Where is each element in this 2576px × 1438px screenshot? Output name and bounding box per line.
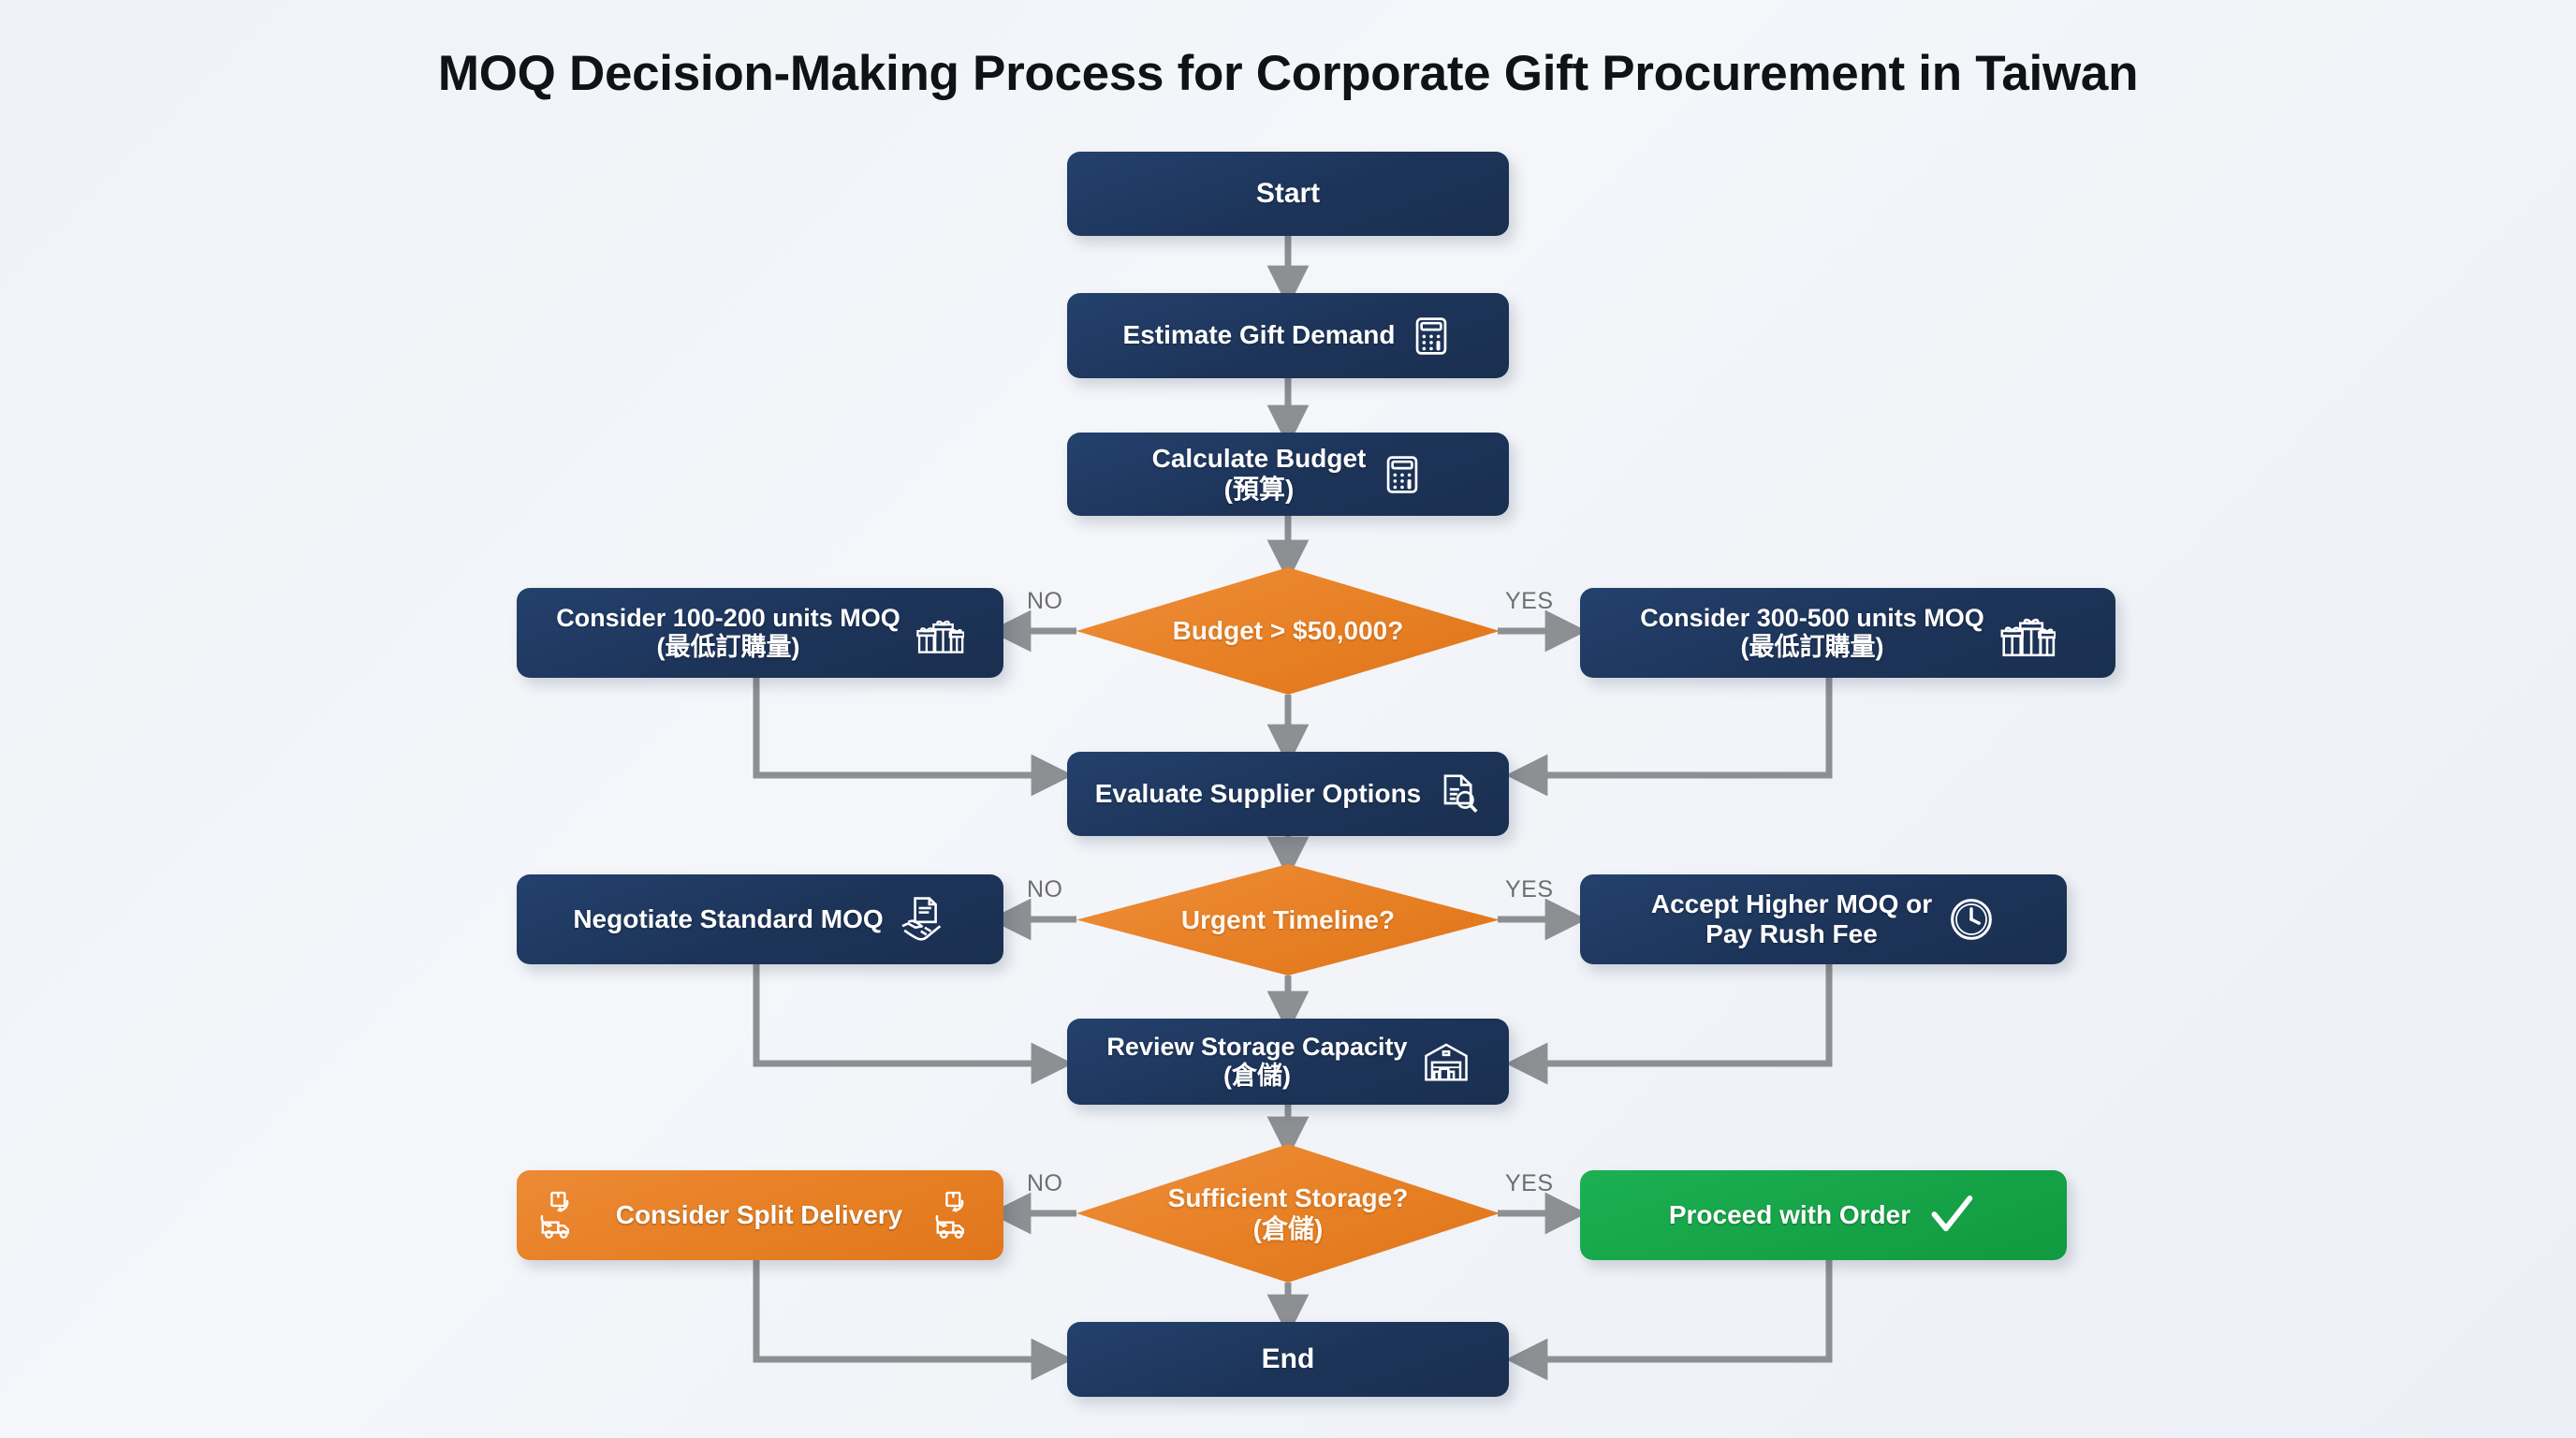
branch-label-no-timeline: NO	[1027, 876, 1063, 903]
gift-icon	[915, 609, 964, 657]
node-evaluate-supplier-options-label: Evaluate Supplier Options	[1095, 779, 1422, 809]
decision-budget-threshold-label: Budget > $50,000?	[1173, 615, 1404, 646]
node-end-label: End	[1262, 1343, 1315, 1376]
node-review-storage-capacity[interactable]: Review Storage Capacity (倉儲)	[1067, 1019, 1509, 1105]
node-consider-low-moq-label: Consider 100-200 units MOQ (最低訂購量)	[556, 604, 900, 663]
node-negotiate-standard-moq[interactable]: Negotiate Standard MOQ	[517, 874, 1003, 964]
decision-sufficient-storage-label: Sufficient Storage? (倉儲)	[1168, 1182, 1409, 1244]
branch-label-yes-storage: YES	[1505, 1170, 1554, 1197]
node-estimate-gift-demand[interactable]: Estimate Gift Demand	[1067, 293, 1509, 378]
decision-budget-threshold[interactable]: Budget > $50,000?	[1076, 567, 1500, 695]
handshake-contract-icon	[899, 895, 947, 944]
delivery-truck-icon	[932, 1190, 983, 1240]
node-consider-low-moq-line1: Consider 100-200 units MOQ	[556, 604, 900, 632]
node-accept-higher-moq-line1: Accept Higher MOQ or	[1651, 889, 1932, 918]
warehouse-icon	[1423, 1038, 1470, 1085]
node-review-storage-capacity-line1: Review Storage Capacity	[1106, 1033, 1407, 1061]
node-consider-low-moq-line2: (最低訂購量)	[657, 633, 800, 661]
clock-icon	[1947, 895, 1996, 944]
node-calculate-budget-line2: (預算)	[1224, 475, 1295, 504]
node-calculate-budget-line1: Calculate Budget	[1152, 444, 1367, 473]
calculator-icon	[1381, 453, 1424, 496]
node-accept-higher-moq-label: Accept Higher MOQ or Pay Rush Fee	[1651, 889, 1932, 950]
node-proceed-with-order-label: Proceed with Order	[1669, 1200, 1910, 1230]
node-consider-high-moq-line1: Consider 300-500 units MOQ	[1640, 604, 1984, 632]
node-consider-high-moq-label: Consider 300-500 units MOQ (最低訂購量)	[1640, 604, 1984, 663]
decision-urgent-timeline[interactable]: Urgent Timeline?	[1076, 864, 1500, 976]
decision-sufficient-storage[interactable]: Sufficient Storage? (倉儲)	[1076, 1144, 1500, 1283]
delivery-truck-icon	[537, 1190, 588, 1240]
node-accept-higher-moq-line2: Pay Rush Fee	[1705, 919, 1878, 948]
document-search-icon	[1436, 771, 1481, 816]
check-icon	[1925, 1189, 1978, 1241]
flowchart-canvas: NO YES NO YES NO YES Start Estimate Gift…	[0, 0, 2576, 1438]
node-review-storage-capacity-line2: (倉儲)	[1223, 1062, 1291, 1090]
node-start[interactable]: Start	[1067, 152, 1509, 236]
node-estimate-gift-demand-label: Estimate Gift Demand	[1123, 320, 1396, 350]
branch-label-yes-timeline: YES	[1505, 876, 1554, 903]
node-negotiate-standard-moq-label: Negotiate Standard MOQ	[573, 904, 883, 934]
node-start-label: Start	[1256, 178, 1320, 211]
decision-sufficient-storage-line2: (倉儲)	[1253, 1214, 1324, 1243]
decision-sufficient-storage-line1: Sufficient Storage?	[1168, 1183, 1409, 1212]
node-accept-higher-moq[interactable]: Accept Higher MOQ or Pay Rush Fee	[1580, 874, 2067, 964]
node-consider-low-moq[interactable]: Consider 100-200 units MOQ (最低訂購量)	[517, 588, 1003, 678]
branch-label-yes-budget: YES	[1505, 588, 1554, 615]
node-consider-high-moq[interactable]: Consider 300-500 units MOQ (最低訂購量)	[1580, 588, 2115, 678]
node-evaluate-supplier-options[interactable]: Evaluate Supplier Options	[1067, 752, 1509, 836]
gift-icon	[1999, 605, 2056, 661]
decision-urgent-timeline-label: Urgent Timeline?	[1181, 904, 1395, 935]
branch-label-no-budget: NO	[1027, 588, 1063, 615]
node-proceed-with-order[interactable]: Proceed with Order	[1580, 1170, 2067, 1260]
node-consider-high-moq-line2: (最低訂購量)	[1741, 633, 1884, 661]
node-consider-split-delivery[interactable]: Consider Split Delivery	[517, 1170, 1003, 1260]
node-calculate-budget-label: Calculate Budget (預算)	[1152, 444, 1367, 505]
node-consider-split-delivery-label: Consider Split Delivery	[616, 1200, 903, 1230]
calculator-icon	[1410, 315, 1453, 358]
branch-label-no-storage: NO	[1027, 1170, 1063, 1197]
node-review-storage-capacity-label: Review Storage Capacity (倉儲)	[1106, 1033, 1407, 1092]
node-calculate-budget[interactable]: Calculate Budget (預算)	[1067, 433, 1509, 516]
node-end[interactable]: End	[1067, 1322, 1509, 1397]
